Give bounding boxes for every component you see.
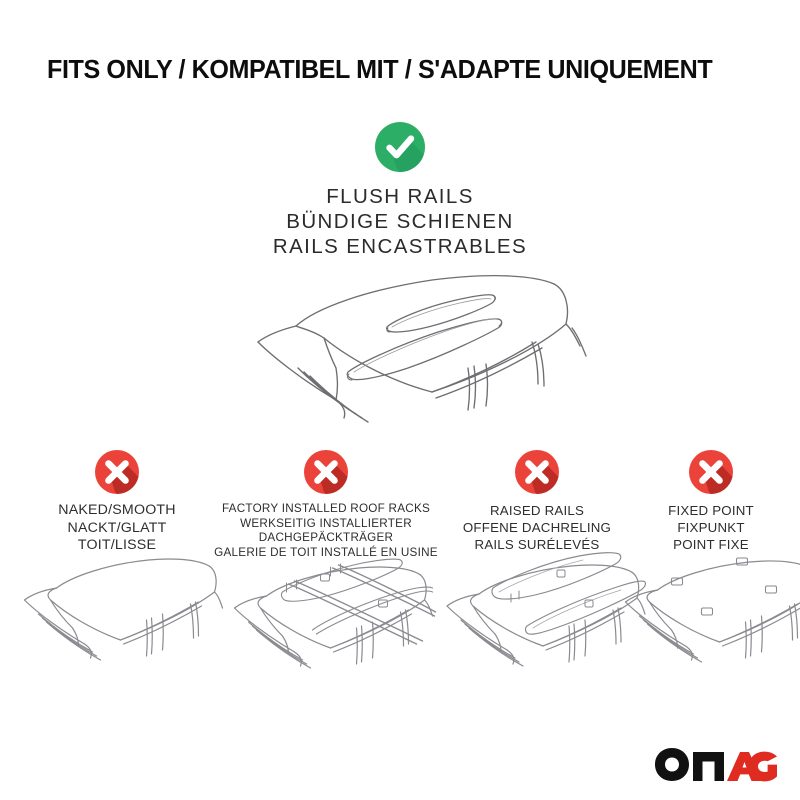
compatible-labels: FLUSH RAILS BÜNDIGE SCHIENEN RAILS ENCAS… bbox=[0, 184, 800, 259]
x-circle-icon-svg bbox=[513, 448, 561, 496]
car-roof-naked-smooth-illustration bbox=[15, 552, 220, 682]
header: FITS ONLY / KOMPATIBEL MIT / S'ADAPTE UN… bbox=[0, 0, 800, 108]
incompatible-label-de: OFFENE DACHRELING bbox=[432, 519, 642, 536]
incompatible-item-naked-smooth: NAKED/SMOOTH NACKT/GLATT TOIT/LISSE bbox=[8, 448, 226, 555]
car-roof-raised-rails-illustration bbox=[433, 552, 645, 682]
omac-logo bbox=[654, 746, 778, 782]
compatible-label-fr: RAILS ENCASTRABLES bbox=[0, 234, 800, 259]
incompatible-item-factory-racks: FACTORY INSTALLED ROOF RACKS WERKSEITIG … bbox=[205, 448, 447, 560]
car-roof-flush-rails-svg bbox=[236, 268, 588, 436]
check-circle-icon-svg bbox=[373, 120, 427, 174]
incompatible-labels: FIXED POINT FIXPUNKT POINT FIXE bbox=[622, 502, 800, 553]
x-circle-icon bbox=[687, 448, 735, 496]
x-circle-icon bbox=[513, 448, 561, 496]
car-roof-raised-rails-svg bbox=[433, 552, 645, 682]
incompatible-label-fr: POINT FIXE bbox=[622, 536, 800, 553]
incompatible-label-de-1: WERKSEITIG INSTALLIERTER bbox=[205, 517, 447, 532]
incompatible-labels: NAKED/SMOOTH NACKT/GLATT TOIT/LISSE bbox=[8, 502, 226, 555]
compatible-section: FLUSH RAILS BÜNDIGE SCHIENEN RAILS ENCAS… bbox=[0, 120, 800, 259]
x-circle-icon-svg bbox=[687, 448, 735, 496]
x-circle-icon-svg bbox=[302, 448, 350, 496]
incompatible-item-fixed-point: FIXED POINT FIXPUNKT POINT FIXE bbox=[622, 448, 800, 553]
incompatible-label-en: FIXED POINT bbox=[622, 502, 800, 519]
car-roof-fixed-point-illustration bbox=[616, 552, 800, 682]
x-circle-icon-svg bbox=[93, 448, 141, 496]
car-roof-flush-rails-illustration bbox=[236, 268, 588, 436]
incompatible-label-de-2: DACHGEPÄCKTRÄGER bbox=[205, 531, 447, 546]
omac-logo-red bbox=[727, 752, 777, 782]
incompatible-label-en: NAKED/SMOOTH bbox=[8, 502, 226, 520]
incompatible-label-en: RAISED RAILS bbox=[432, 502, 642, 519]
check-circle-icon bbox=[373, 120, 427, 174]
omac-logo-svg bbox=[654, 746, 778, 782]
incompatible-label-de: FIXPUNKT bbox=[622, 519, 800, 536]
car-roof-naked-smooth-svg bbox=[15, 552, 220, 682]
compatible-label-en: FLUSH RAILS bbox=[0, 184, 800, 209]
page-title: FITS ONLY / KOMPATIBEL MIT / S'ADAPTE UN… bbox=[47, 56, 712, 85]
omac-logo-dark bbox=[655, 748, 724, 781]
incompatible-label-fr: RAILS SURÉLEVÉS bbox=[432, 536, 642, 553]
x-circle-icon bbox=[302, 448, 350, 496]
compatible-label-de: BÜNDIGE SCHIENEN bbox=[0, 209, 800, 234]
incompatible-item-raised-rails: RAISED RAILS OFFENE DACHRELING RAILS SUR… bbox=[432, 448, 642, 553]
car-roof-fixed-point-svg bbox=[616, 552, 800, 682]
incompatible-labels: RAISED RAILS OFFENE DACHRELING RAILS SUR… bbox=[432, 502, 642, 553]
x-circle-icon bbox=[93, 448, 141, 496]
incompatible-label-en: FACTORY INSTALLED ROOF RACKS bbox=[205, 502, 447, 517]
car-roof-factory-racks-svg bbox=[221, 552, 436, 682]
incompatible-section: NAKED/SMOOTH NACKT/GLATT TOIT/LISSE bbox=[0, 448, 800, 688]
car-roof-factory-racks-illustration bbox=[221, 552, 436, 682]
incompatible-label-de: NACKT/GLATT bbox=[8, 520, 226, 538]
